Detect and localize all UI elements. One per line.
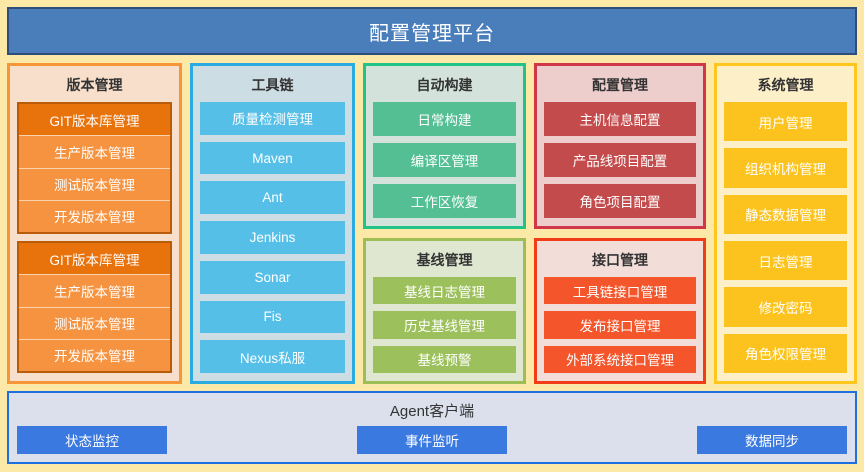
panel-title-toolchain: 工具链 — [200, 71, 345, 102]
panel-title-auto-build: 自动构建 — [373, 71, 516, 102]
system-item-role-permission[interactable]: 角色权限管理 — [724, 334, 847, 373]
toolchain-item-maven[interactable]: Maven — [200, 142, 345, 175]
agent-button-data-sync[interactable]: 数据同步 — [697, 426, 847, 454]
system-item-change-password[interactable]: 修改密码 — [724, 287, 847, 326]
baseline-item-alert[interactable]: 基线预警 — [373, 346, 516, 373]
agent-client-bar: Agent客户端 状态监控 事件监听 数据同步 — [7, 391, 857, 464]
auto-build-item-compile-area[interactable]: 编译区管理 — [373, 143, 516, 177]
panel-title-version-management: 版本管理 — [17, 71, 172, 102]
toolchain-item-jenkins[interactable]: Jenkins — [200, 221, 345, 254]
agent-client-title: Agent客户端 — [17, 397, 847, 426]
version-group-2: GIT版本库管理 生产版本管理 测试版本管理 开发版本管理 — [17, 241, 172, 373]
baseline-item-log[interactable]: 基线日志管理 — [373, 277, 516, 304]
version-group-2-item-prod[interactable]: 生产版本管理 — [19, 274, 170, 306]
config-item-role-project[interactable]: 角色项目配置 — [544, 184, 696, 218]
version-group-1-item-dev[interactable]: 开发版本管理 — [19, 200, 170, 232]
panel-body-system-management: 用户管理 组织机构管理 静态数据管理 日志管理 修改密码 角色权限管理 — [724, 102, 847, 373]
system-item-organization[interactable]: 组织机构管理 — [724, 148, 847, 187]
panel-title-interface-management: 接口管理 — [544, 246, 696, 277]
column-configuration: 配置管理 主机信息配置 产品线项目配置 角色项目配置 接口管理 工具链接口管理 … — [534, 63, 706, 384]
page-title-text: 配置管理平台 — [369, 17, 495, 46]
panel-baseline-management: 基线管理 基线日志管理 历史基线管理 基线预警 — [363, 238, 526, 384]
system-item-static-data[interactable]: 静态数据管理 — [724, 195, 847, 234]
panel-body-baseline-management: 基线日志管理 历史基线管理 基线预警 — [373, 277, 516, 373]
baseline-item-history[interactable]: 历史基线管理 — [373, 311, 516, 338]
toolchain-item-sonar[interactable]: Sonar — [200, 261, 345, 294]
panel-system-management: 系统管理 用户管理 组织机构管理 静态数据管理 日志管理 修改密码 角色权限管理 — [714, 63, 857, 384]
config-item-host-info[interactable]: 主机信息配置 — [544, 102, 696, 136]
version-group-1: GIT版本库管理 生产版本管理 测试版本管理 开发版本管理 — [17, 102, 172, 234]
toolchain-item-fis[interactable]: Fis — [200, 301, 345, 334]
page-title: 配置管理平台 — [7, 7, 857, 55]
system-item-log[interactable]: 日志管理 — [724, 241, 847, 280]
module-columns: 版本管理 GIT版本库管理 生产版本管理 测试版本管理 开发版本管理 GIT版本… — [7, 55, 857, 391]
panel-version-management: 版本管理 GIT版本库管理 生产版本管理 测试版本管理 开发版本管理 GIT版本… — [7, 63, 182, 384]
version-group-1-header[interactable]: GIT版本库管理 — [19, 104, 170, 135]
column-version-management: 版本管理 GIT版本库管理 生产版本管理 测试版本管理 开发版本管理 GIT版本… — [7, 63, 182, 384]
panel-body-version-management: GIT版本库管理 生产版本管理 测试版本管理 开发版本管理 GIT版本库管理 生… — [17, 102, 172, 373]
version-group-2-item-test[interactable]: 测试版本管理 — [19, 307, 170, 339]
platform-architecture-diagram: 配置管理平台 版本管理 GIT版本库管理 生产版本管理 测试版本管理 开发版本管… — [0, 0, 864, 472]
auto-build-item-workspace-restore[interactable]: 工作区恢复 — [373, 184, 516, 218]
config-item-product-line[interactable]: 产品线项目配置 — [544, 143, 696, 177]
version-group-2-item-dev[interactable]: 开发版本管理 — [19, 339, 170, 371]
toolchain-item-quality[interactable]: 质量检测管理 — [200, 102, 345, 135]
panel-configuration-management: 配置管理 主机信息配置 产品线项目配置 角色项目配置 — [534, 63, 706, 229]
agent-client-buttons: 状态监控 事件监听 数据同步 — [17, 426, 847, 454]
version-group-1-item-test[interactable]: 测试版本管理 — [19, 168, 170, 200]
column-system-management: 系统管理 用户管理 组织机构管理 静态数据管理 日志管理 修改密码 角色权限管理 — [714, 63, 857, 384]
interface-item-release[interactable]: 发布接口管理 — [544, 311, 696, 338]
agent-button-event-listener[interactable]: 事件监听 — [357, 426, 507, 454]
panel-auto-build: 自动构建 日常构建 编译区管理 工作区恢复 — [363, 63, 526, 229]
version-group-2-header[interactable]: GIT版本库管理 — [19, 243, 170, 274]
panel-toolchain: 工具链 质量检测管理 Maven Ant Jenkins Sonar Fis N… — [190, 63, 355, 384]
column-toolchain: 工具链 质量检测管理 Maven Ant Jenkins Sonar Fis N… — [190, 63, 355, 384]
auto-build-item-daily[interactable]: 日常构建 — [373, 102, 516, 136]
version-group-1-item-prod[interactable]: 生产版本管理 — [19, 135, 170, 167]
system-item-user[interactable]: 用户管理 — [724, 102, 847, 141]
panel-body-interface-management: 工具链接口管理 发布接口管理 外部系统接口管理 — [544, 277, 696, 373]
panel-body-configuration-management: 主机信息配置 产品线项目配置 角色项目配置 — [544, 102, 696, 218]
toolchain-item-ant[interactable]: Ant — [200, 181, 345, 214]
panel-title-baseline-management: 基线管理 — [373, 246, 516, 277]
interface-item-external-system[interactable]: 外部系统接口管理 — [544, 346, 696, 373]
panel-body-toolchain: 质量检测管理 Maven Ant Jenkins Sonar Fis Nexus… — [200, 102, 345, 373]
interface-item-toolchain[interactable]: 工具链接口管理 — [544, 277, 696, 304]
toolchain-item-nexus[interactable]: Nexus私服 — [200, 340, 345, 373]
panel-body-auto-build: 日常构建 编译区管理 工作区恢复 — [373, 102, 516, 218]
column-build: 自动构建 日常构建 编译区管理 工作区恢复 基线管理 基线日志管理 历史基线管理… — [363, 63, 526, 384]
agent-button-status-monitor[interactable]: 状态监控 — [17, 426, 167, 454]
panel-title-system-management: 系统管理 — [724, 71, 847, 102]
panel-interface-management: 接口管理 工具链接口管理 发布接口管理 外部系统接口管理 — [534, 238, 706, 384]
panel-title-configuration-management: 配置管理 — [544, 71, 696, 102]
